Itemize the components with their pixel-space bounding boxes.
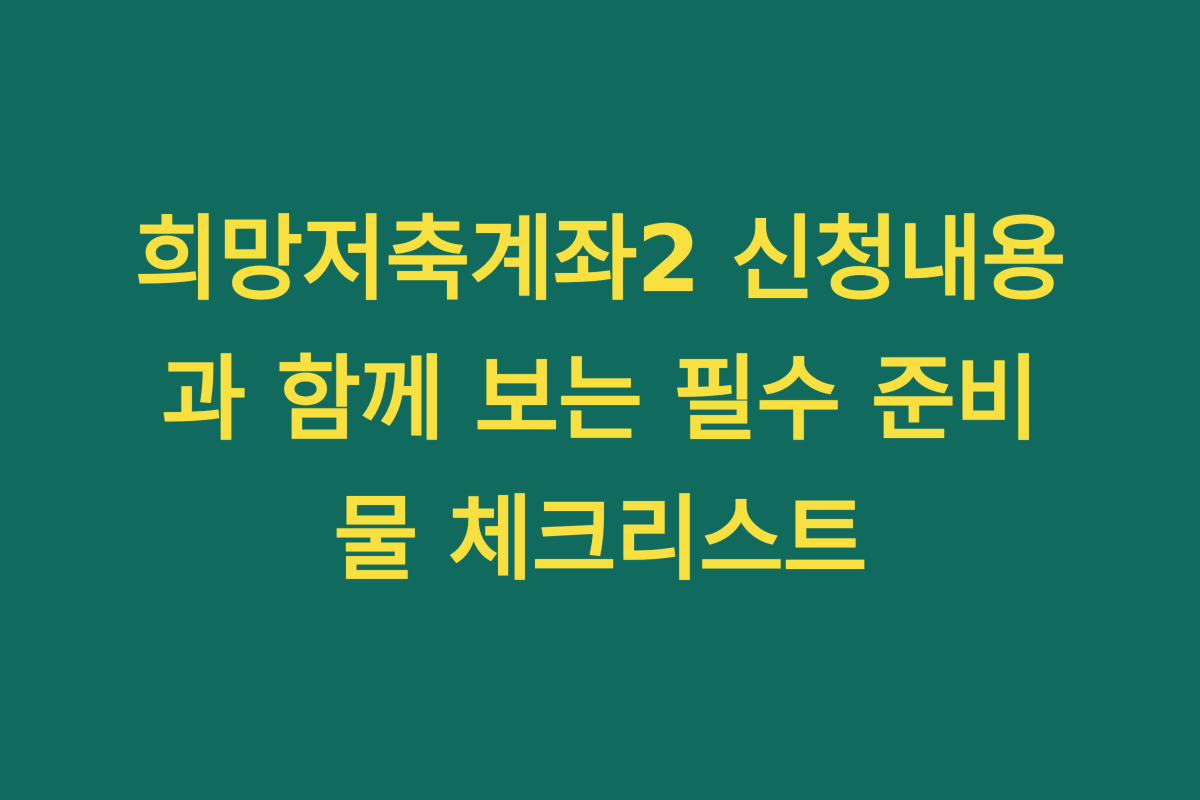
headline-line-1: 희망저축계좌2 신청내용 [60, 190, 1140, 330]
headline-line-2: 과 함께 보는 필수 준비 [60, 330, 1140, 470]
banner-canvas: 희망저축계좌2 신청내용 과 함께 보는 필수 준비 물 체크리스트 [0, 0, 1200, 800]
headline-text: 희망저축계좌2 신청내용 과 함께 보는 필수 준비 물 체크리스트 [60, 190, 1140, 610]
headline-line-3: 물 체크리스트 [60, 470, 1140, 610]
